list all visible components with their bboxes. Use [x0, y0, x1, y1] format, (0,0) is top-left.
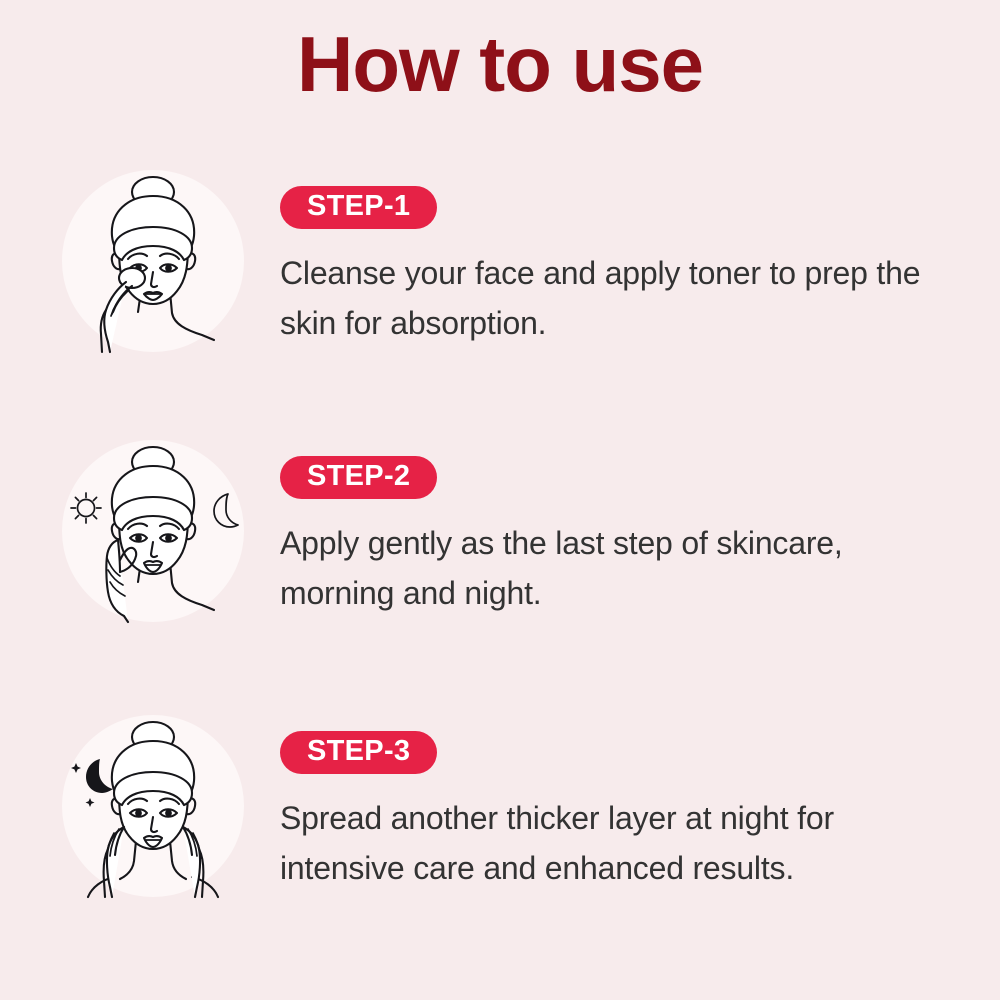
sun-icon	[71, 493, 101, 523]
step-3-description: Spread another thicker layer at night fo…	[280, 794, 950, 893]
step-3-illustration	[62, 715, 244, 897]
step-3-badge: STEP-3	[280, 731, 437, 774]
step-1-text: STEP-1 Cleanse your face and apply toner…	[280, 186, 960, 349]
woman-massaging-face-at-night-icon	[62, 715, 244, 897]
step-1-badge: STEP-1	[280, 186, 437, 229]
woman-applying-cream-day-and-night-icon	[62, 440, 244, 622]
crescent-moon-icon	[214, 494, 238, 527]
step-row: STEP-1 Cleanse your face and apply toner…	[0, 160, 1000, 390]
step-2-description: Apply gently as the last step of skincar…	[280, 519, 950, 618]
step-1-illustration	[62, 170, 244, 352]
woman-applying-toner-with-cotton-pad-icon	[62, 170, 244, 352]
page-title: How to use	[0, 24, 1000, 106]
step-2-text: STEP-2 Apply gently as the last step of …	[280, 456, 960, 619]
step-2-illustration	[62, 440, 244, 622]
step-3-text: STEP-3 Spread another thicker layer at n…	[280, 731, 960, 894]
step-2-badge: STEP-2	[280, 456, 437, 499]
step-row: STEP-3 Spread another thicker layer at n…	[0, 705, 1000, 935]
step-1-description: Cleanse your face and apply toner to pre…	[280, 249, 950, 348]
step-row: STEP-2 Apply gently as the last step of …	[0, 430, 1000, 660]
